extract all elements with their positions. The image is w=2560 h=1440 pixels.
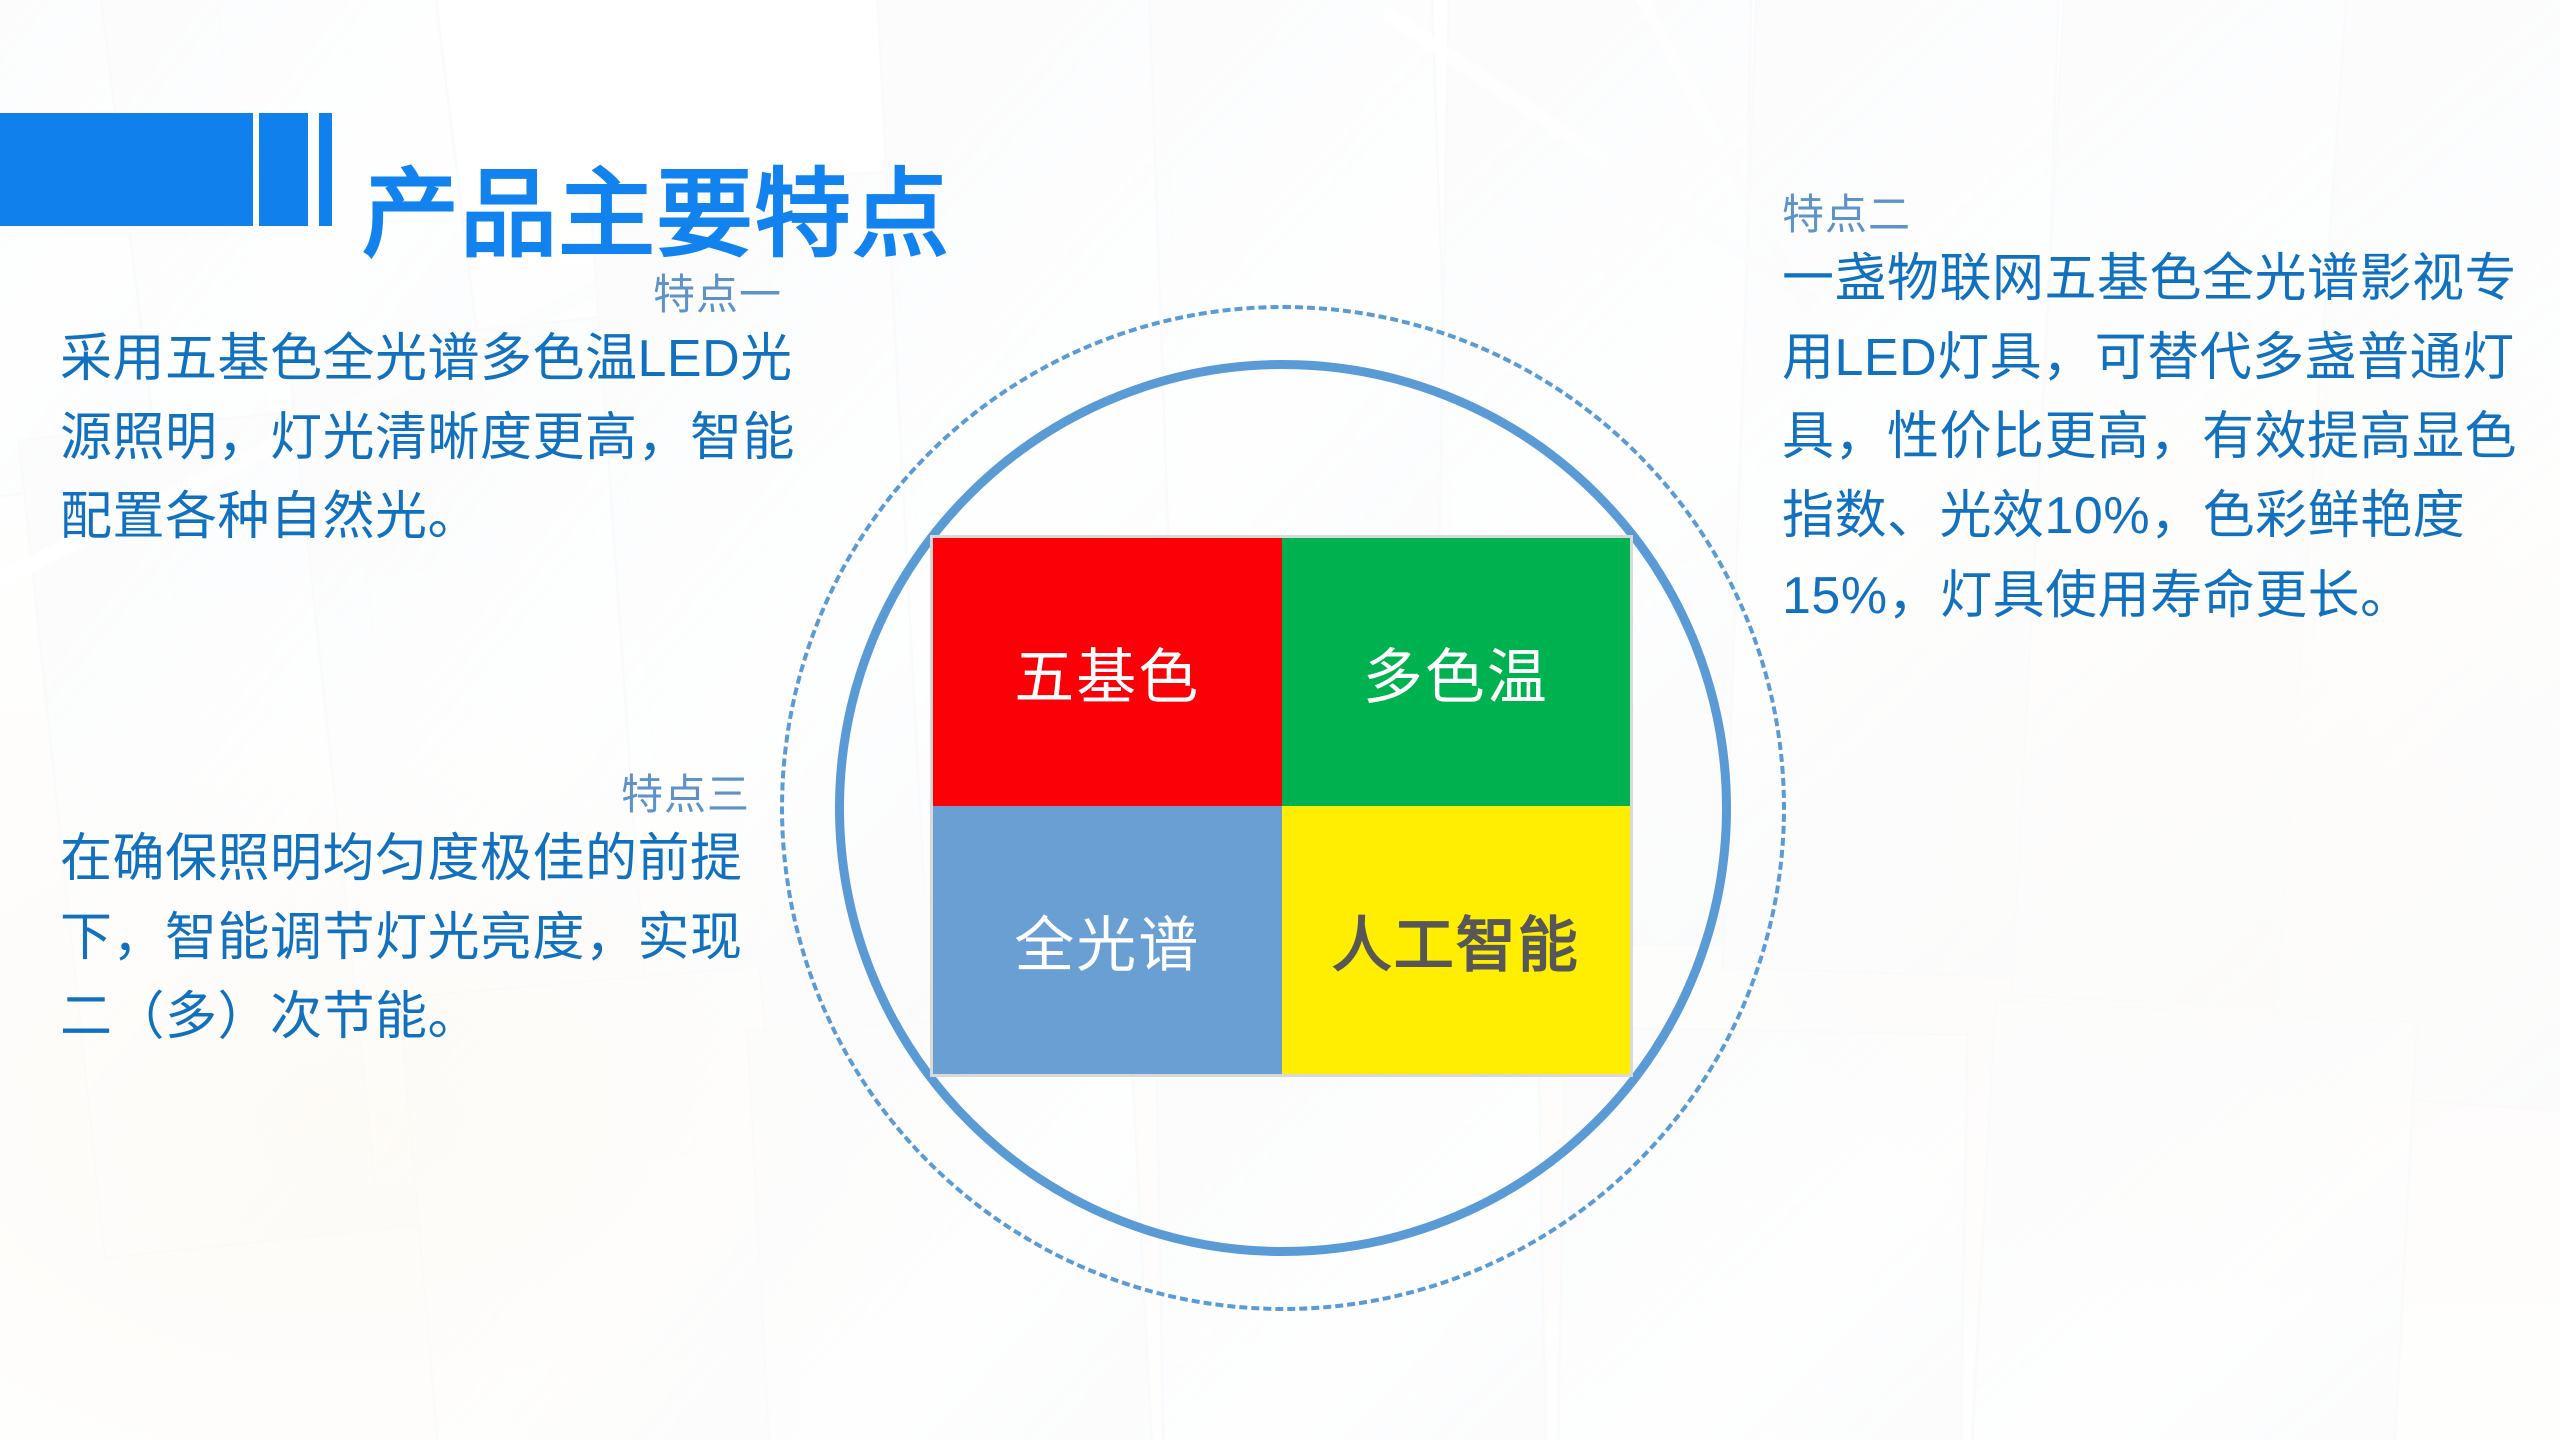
quadrant-label: 五基色 xyxy=(1014,629,1200,716)
page-title: 产品主要特点 xyxy=(362,161,950,270)
quadrant-label: 人工智能 xyxy=(1332,897,1580,984)
feature-block-one: 特点一 采用五基色全光谱多色温LED光源照明，灯光清晰度更高，智能配置各种自然光… xyxy=(60,270,800,557)
title-accent-bars xyxy=(0,113,332,226)
background-pane xyxy=(1966,999,2418,1440)
quadrant-cell-quanguangpu[interactable]: 全光谱 xyxy=(933,806,1282,1074)
feature-one-body: 采用五基色全光谱多色温LED光源照明，灯光清晰度更高，智能配置各种自然光。 xyxy=(60,320,800,557)
feature-block-three: 特点三 在确保照明均匀度极佳的前提下，智能调节灯光亮度，实现二（多）次节能。 xyxy=(60,770,780,1057)
feature-block-two: 特点二 一盏物联网五基色全光谱影视专用LED灯具，可替代多盏普通灯具，性价比更高… xyxy=(1782,190,2542,636)
feature-quadrant-grid: 五基色 多色温 全光谱 人工智能 xyxy=(930,535,1633,1077)
feature-three-label: 特点三 xyxy=(60,770,780,820)
feature-two-body: 一盏物联网五基色全光谱影视专用LED灯具，可替代多盏普通灯具，性价比更高，有效提… xyxy=(1782,240,2542,635)
feature-one-label: 特点一 xyxy=(60,270,800,320)
quadrant-label: 全光谱 xyxy=(1014,897,1200,984)
feature-three-body: 在确保照明均匀度极佳的前提下，智能调节灯光亮度，实现二（多）次节能。 xyxy=(60,820,780,1057)
background-edge xyxy=(1381,6,1820,308)
title-accent-bar-small xyxy=(319,113,332,226)
quadrant-cell-wujise[interactable]: 五基色 xyxy=(933,538,1282,806)
quadrant-label: 多色温 xyxy=(1363,629,1549,716)
quadrant-cell-duoseewen[interactable]: 多色温 xyxy=(1282,538,1631,806)
slide-canvas: 产品主要特点 五基色 多色温 全光谱 人工智能 特点一 采用五基色全光谱多色温L… xyxy=(0,0,2560,1440)
title-accent-bar-medium xyxy=(259,113,308,226)
quadrant-cell-rengongzhineng[interactable]: 人工智能 xyxy=(1282,806,1631,1074)
feature-two-label: 特点二 xyxy=(1782,190,2542,240)
title-accent-bar-large xyxy=(0,113,253,226)
